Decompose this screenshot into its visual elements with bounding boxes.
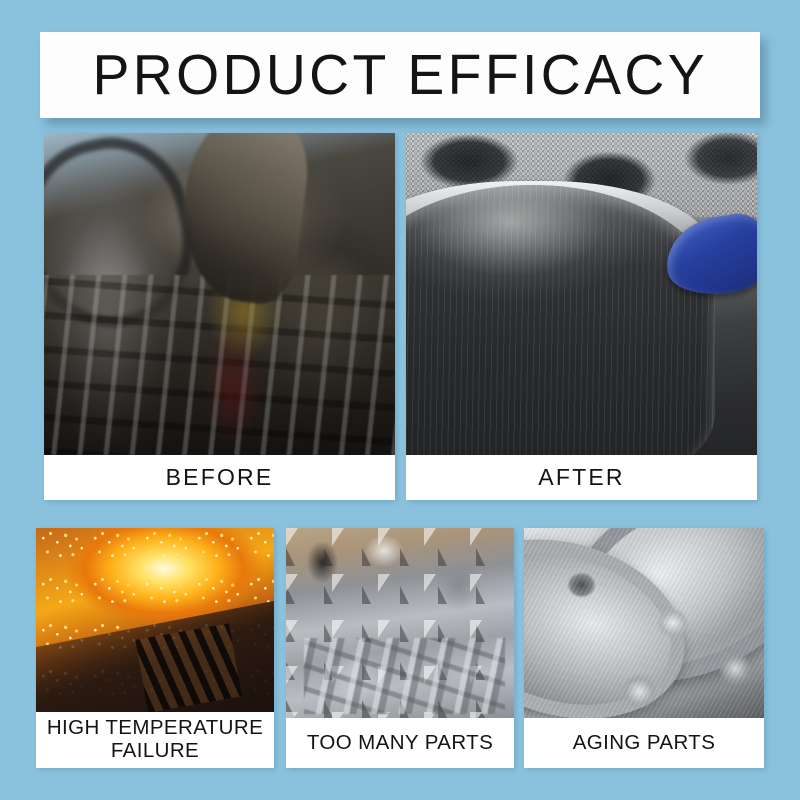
molten-steel-photo [36,528,274,712]
issue-card-high-temperature-failure: HIGH TEMPERATURE FAILURE [36,528,274,768]
dirty-engine-cylinder-head-photo [44,133,395,455]
product-efficacy-poster: PRODUCT EFFICACY BEFORE AFTER [0,0,800,800]
before-label: BEFORE [44,455,395,500]
issue-card-aging-parts: AGING PARTS [524,528,764,768]
title-banner: PRODUCT EFFICACY [40,32,760,118]
scattered-tools-texture [304,638,505,714]
ladle-grate-texture [135,623,242,712]
after-label: AFTER [406,455,757,500]
issue-card-too-many-parts: TOO MANY PARTS [286,528,514,768]
before-card: BEFORE [44,133,395,500]
oil-grime-stain [191,281,296,442]
machining-lines-texture [524,528,764,718]
cluttered-workbench-photo [286,528,514,718]
issue-label-too-many-parts: TOO MANY PARTS [286,718,514,768]
page-title: PRODUCT EFFICACY [92,47,707,104]
issue-label-high-temperature-failure: HIGH TEMPERATURE FAILURE [36,712,274,768]
after-card: AFTER [406,133,757,500]
issue-label-aging-parts: AGING PARTS [524,718,764,768]
metal-flanges-photo [524,528,764,718]
issues-row: HIGH TEMPERATURE FAILURE TOO MANY PARTS … [36,528,764,768]
clean-engine-bore-photo [406,133,757,455]
bore-interior [406,185,715,455]
before-after-row: BEFORE AFTER [44,133,757,500]
